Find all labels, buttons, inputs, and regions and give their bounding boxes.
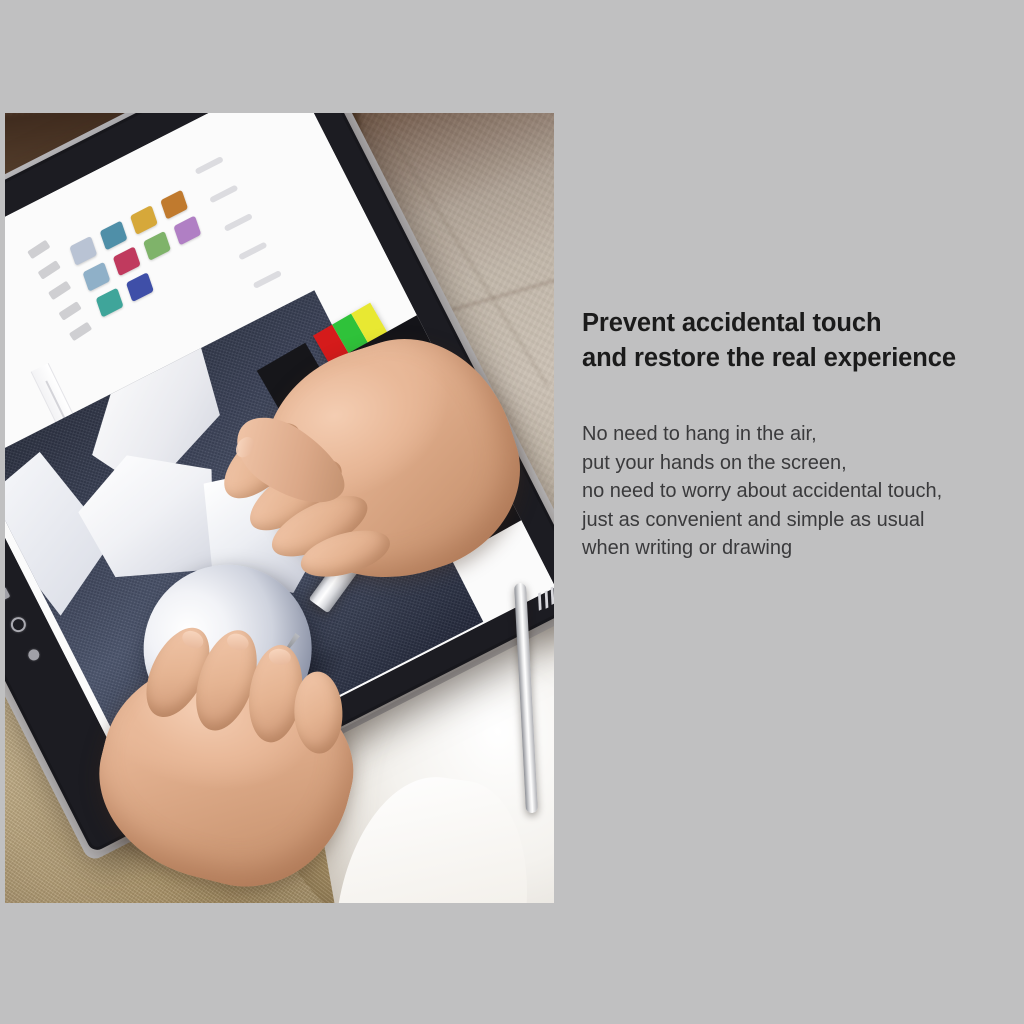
menu-item	[209, 184, 238, 203]
menu-list	[194, 156, 282, 289]
headline-line-2: and restore the real experience	[582, 341, 1024, 376]
dot-icon	[26, 648, 41, 663]
menu-item	[224, 213, 253, 232]
body-copy: No need to hang in the air, put your han…	[582, 420, 1024, 563]
menu-item	[194, 156, 223, 175]
tool-chip	[113, 246, 141, 276]
tool-chip	[100, 220, 128, 250]
body-line-1: No need to hang in the air,	[582, 420, 1024, 449]
tool-chip	[126, 272, 154, 302]
menu-item	[253, 270, 282, 289]
square-icon	[5, 587, 10, 602]
fingernail	[268, 647, 292, 666]
marketing-copy: Prevent accidental touch and restore the…	[582, 306, 1024, 563]
tool-chip	[82, 262, 110, 292]
tool-chip	[69, 236, 97, 266]
tool-chip	[143, 231, 171, 261]
body-line-3: no need to worry about accidental touch,	[582, 477, 1024, 506]
tool-chip	[130, 205, 158, 235]
brush-mark	[69, 322, 92, 342]
circle-icon	[8, 615, 28, 635]
tool-chip	[173, 215, 201, 245]
body-line-2: put your hands on the screen,	[582, 449, 1024, 478]
brush-mark	[38, 260, 61, 280]
body-line-4: just as convenient and simple as usual	[582, 506, 1024, 535]
tool-chip	[160, 190, 188, 220]
headline: Prevent accidental touch and restore the…	[582, 306, 1024, 376]
fingernail	[179, 628, 206, 652]
menu-item	[238, 241, 267, 260]
tool-chip	[96, 288, 124, 318]
product-photo: T	[5, 113, 554, 903]
tool-palette-grid	[68, 188, 219, 317]
body-line-5: when writing or drawing	[582, 534, 1024, 563]
brush-mark	[27, 240, 50, 260]
brush-mark	[58, 301, 81, 321]
brush-mark	[48, 281, 71, 301]
fingernail	[225, 631, 251, 653]
headline-line-1: Prevent accidental touch	[582, 306, 1024, 341]
